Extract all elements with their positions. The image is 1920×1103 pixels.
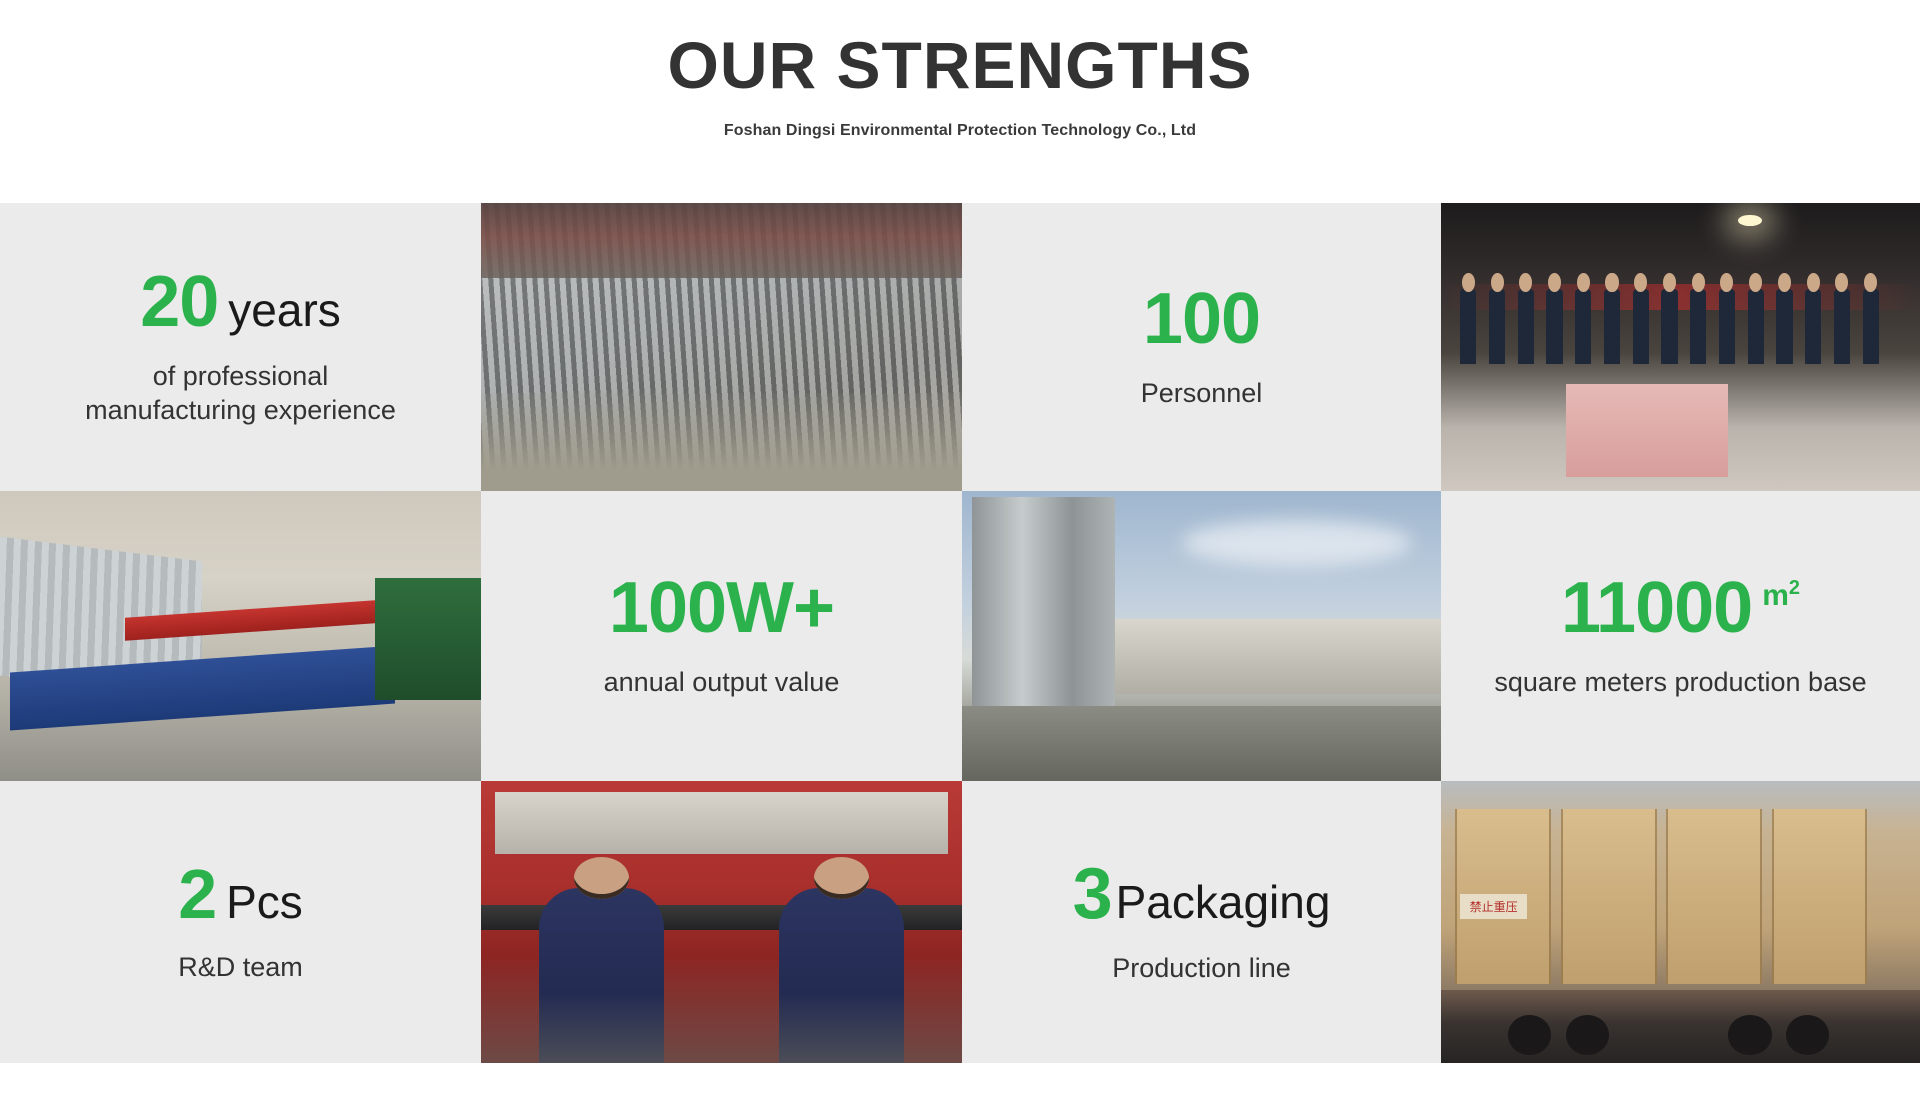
stat-unit: Pcs [226,879,303,925]
stat-card-rnd-team: 2 Pcs R&D team [0,781,481,1063]
photo-team-group [1441,203,1920,491]
stat-description: of professional manufacturing experience [76,360,406,428]
stat-number: 20 [140,266,218,338]
stat-card-production-base-area: 11000 m2 square meters production base [1441,491,1920,781]
truck-wheel [1566,1015,1609,1054]
truck-wheel [1786,1015,1829,1054]
stat-headline: 100W+ [609,572,834,644]
stat-number: 3 [1073,858,1112,930]
stat-description: square meters production base [1494,666,1866,700]
truck-wheel [1728,1015,1771,1054]
stat-unit: Packaging [1116,879,1331,925]
company-name-subtitle: Foshan Dingsi Environmental Protection T… [724,122,1196,140]
machine-control-panel [495,792,947,854]
page-title: OUR STRENGTHS [667,28,1252,104]
stat-headline: 20 years [140,266,341,338]
silo-tower [972,497,1116,712]
stat-headline: 2 Pcs [178,859,303,929]
stat-card-personnel-count: 100 Personnel [962,203,1441,491]
wooden-crate [1772,809,1868,984]
truck-wheel [1508,1015,1551,1054]
square-meters-unit: m2 [1762,578,1800,611]
stat-number: 11000 [1561,572,1752,644]
photo-workers-press-brake [481,781,962,1063]
photo-crates-truck: 禁止重压 [1441,781,1920,1063]
cloud [1182,520,1412,566]
production-building [1096,619,1441,694]
stat-card-years-experience: 20 years of professional manufacturing e… [0,203,481,491]
machine-green-body [375,578,481,700]
photo-metal-parts-workshop [481,203,962,491]
photo-factory-exterior [962,491,1441,781]
ceremony-table [1566,384,1729,476]
crate-warning-label: 禁止重压 [1460,894,1527,919]
photo-press-machine [0,491,481,781]
ground [962,706,1441,781]
page-header: OUR STRENGTHS Foshan Dingsi Environmenta… [0,0,1920,203]
stat-description: Personnel [1141,377,1263,411]
stat-card-packaging-production-line: 3 Packaging Production line [962,781,1441,1063]
stat-description: Production line [1112,952,1291,986]
stat-headline: 11000 m2 [1561,572,1800,644]
stat-number: 100 [1143,283,1260,355]
worker-left [539,888,664,1063]
stat-description: annual output value [604,666,840,700]
stat-headline: 100 [1143,283,1260,355]
strengths-grid: 20 years of professional manufacturing e… [0,203,1920,1063]
stat-number: 100W+ [609,572,834,644]
stat-number: 2 [178,859,216,929]
worker-right [779,888,904,1063]
wooden-crate [1561,809,1657,984]
stat-card-annual-output-value: 100W+ annual output value [481,491,962,781]
stat-description: R&D team [178,951,303,985]
stat-unit: years [228,287,340,333]
stat-headline: 3 Packaging [1073,858,1331,930]
wooden-crate [1666,809,1762,984]
